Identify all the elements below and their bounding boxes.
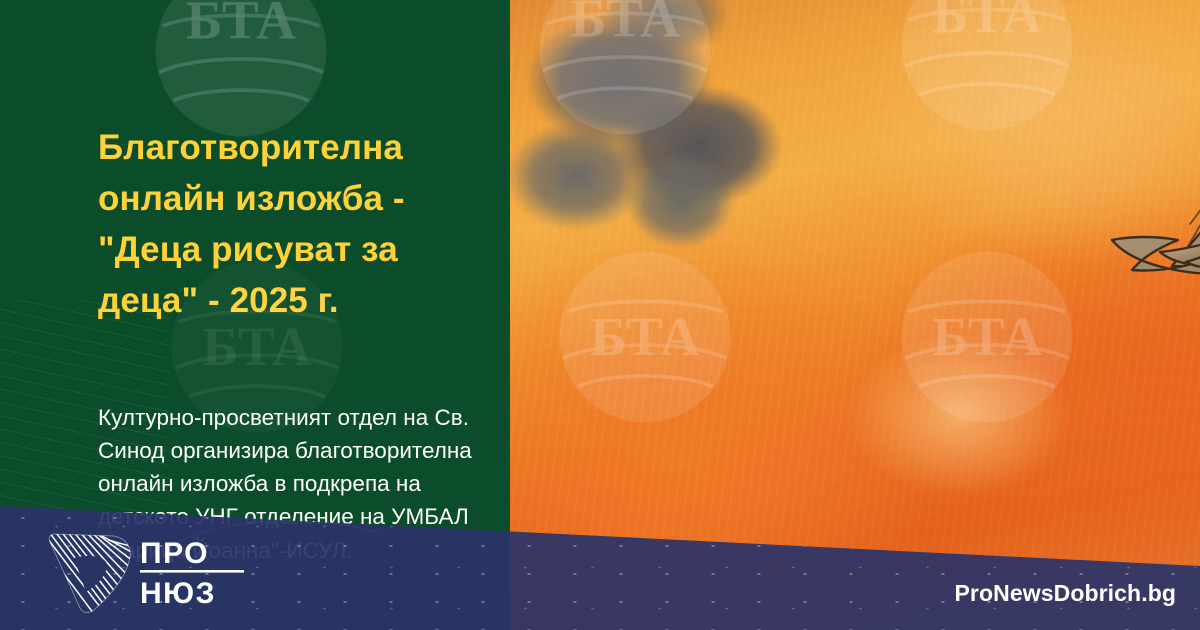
svg-text:БТА: БТА xyxy=(590,306,700,367)
dove-illustration xyxy=(1110,0,1200,420)
bta-watermark: БТА xyxy=(152,0,330,140)
bta-watermark: БТА xyxy=(168,258,346,436)
bta-watermark: БТА xyxy=(898,248,1076,426)
logo-line-2: НЮЗ xyxy=(140,577,216,610)
logo-line-1: ПРО xyxy=(140,537,209,570)
social-share-card: Благотворителна онлайн изложба - "Деца р… xyxy=(0,0,1200,630)
pronews-d-mark-icon[interactable] xyxy=(40,528,135,616)
svg-text:БТА: БТА xyxy=(202,316,312,377)
site-name[interactable]: ProNewsDobrich.bg xyxy=(954,580,1176,607)
bta-watermark: БТА xyxy=(536,0,714,138)
svg-text:БТА: БТА xyxy=(186,0,296,51)
bta-watermark: БТА xyxy=(556,248,734,426)
svg-text:БТА: БТА xyxy=(570,0,680,49)
pronews-wordmark[interactable]: ПРО НЮЗ xyxy=(140,535,260,610)
svg-text:БТА: БТА xyxy=(932,0,1042,45)
bta-watermark: БТА xyxy=(898,0,1076,134)
svg-text:БТА: БТА xyxy=(932,306,1042,367)
